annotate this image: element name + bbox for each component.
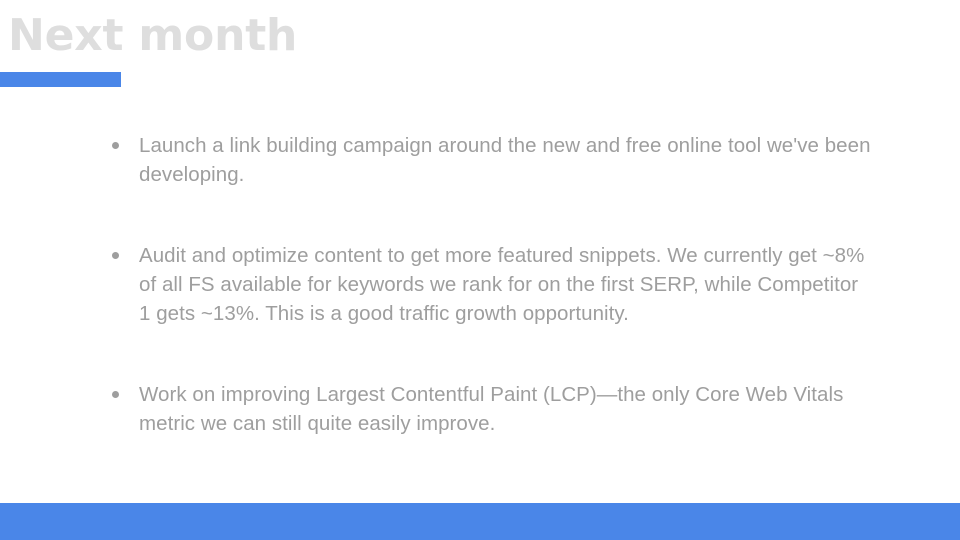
bullet-text: Work on improving Largest Contentful Pai… [139,380,874,438]
bullet-dot-icon [112,252,119,259]
bullet-dot-icon [112,142,119,149]
page-title: Next month [8,6,297,66]
bullet-list: Launch a link building campaign around t… [104,131,874,438]
bullet-text: Launch a link building campaign around t… [139,131,874,189]
slide: Next month Launch a link building campai… [0,0,960,540]
slide-title-area: Next month [0,0,700,95]
title-accent-bar [0,72,121,87]
bullet-text: Audit and optimize content to get more f… [139,241,874,328]
list-item: Work on improving Largest Contentful Pai… [104,380,874,438]
list-item: Audit and optimize content to get more f… [104,241,874,328]
slide-body: Launch a link building campaign around t… [104,131,874,438]
bullet-dot-icon [112,391,119,398]
footer-accent-bar [0,503,960,540]
list-item: Launch a link building campaign around t… [104,131,874,189]
